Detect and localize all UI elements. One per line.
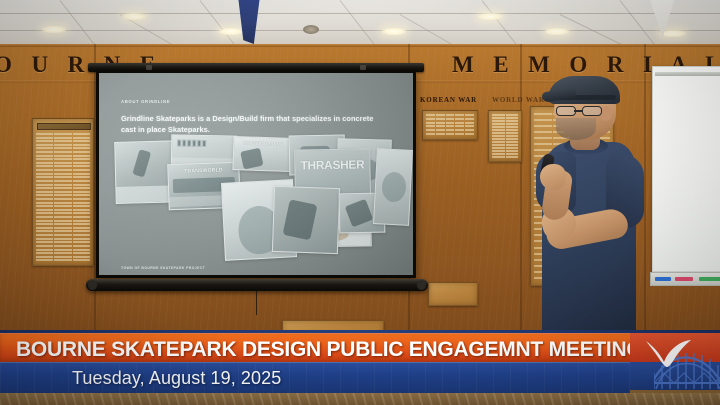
memorial-plaque-korean-war [422,110,478,140]
slide-eyebrow: ABOUT GRINDLINE [121,99,170,104]
seagull-icon [644,338,692,368]
screen-surface: ABOUT GRINDLINE Grindline Skateparks is … [99,73,413,275]
ceiling-light [122,13,146,20]
presentation-slide: ABOUT GRINDLINE Grindline Skateparks is … [99,73,413,275]
memorial-plaque-left [32,118,94,266]
presenter-beard [556,118,596,140]
memorial-plaque-world-war-two [488,110,522,162]
bourne-bridge-seagull-logo [630,333,720,393]
magazine-cover [373,148,413,226]
glasses-lens-right [582,106,602,116]
ceiling-light [42,26,66,33]
ceiling-light [545,28,569,35]
presenter-hand-holding-mic [540,164,566,190]
wall-plaque-under-screen-right [428,282,478,306]
presenter [520,76,670,338]
meeting-title: BOURNE SKATEPARK DESIGN PUBLIC ENGAGEMNT… [16,338,643,362]
marker-green [699,277,720,281]
ceiling [0,0,720,48]
slide-footnote: TOWN OF BOURNE SKATEPARK PROJECT [121,266,205,270]
meeting-date: Tuesday, August 19, 2025 [72,368,281,389]
marker-pink [675,277,693,281]
lower-third-banner: BOURNE SKATEPARK DESIGN PUBLIC ENGAGEMNT… [0,330,720,405]
magazine-cover: SKATEBOARDING [232,136,293,172]
plaque-label-korean-war: KOREAN WAR [420,96,477,104]
hanging-flag-blue [238,0,260,44]
ceiling-light [219,28,243,35]
magazine-title: THRASHER [295,157,369,172]
floor-strip [0,393,720,405]
magazine-cover-collage: TRANSWORLD SKATEBOARDING [113,135,413,263]
glasses-lens-left [556,106,576,116]
video-frame: O U R N E M E M O R I A L KOREAN WAR [0,0,720,405]
lower-third-title-bar: BOURNE SKATEPARK DESIGN PUBLIC ENGAGEMNT… [0,333,648,362]
ceiling-fixture [303,25,319,34]
ceiling-light [478,13,502,20]
screen-pull-cord [256,291,257,315]
lower-third-date-bar: Tuesday, August 19, 2025 [0,362,648,393]
screen-frame: ABOUT GRINDLINE Grindline Skateparks is … [96,70,416,278]
magazine-cover [272,186,340,254]
ceiling-light [382,28,406,35]
screen-bottom-bar [86,279,428,291]
slide-headline: Grindline Skateparks is a Design/Build f… [121,113,389,136]
